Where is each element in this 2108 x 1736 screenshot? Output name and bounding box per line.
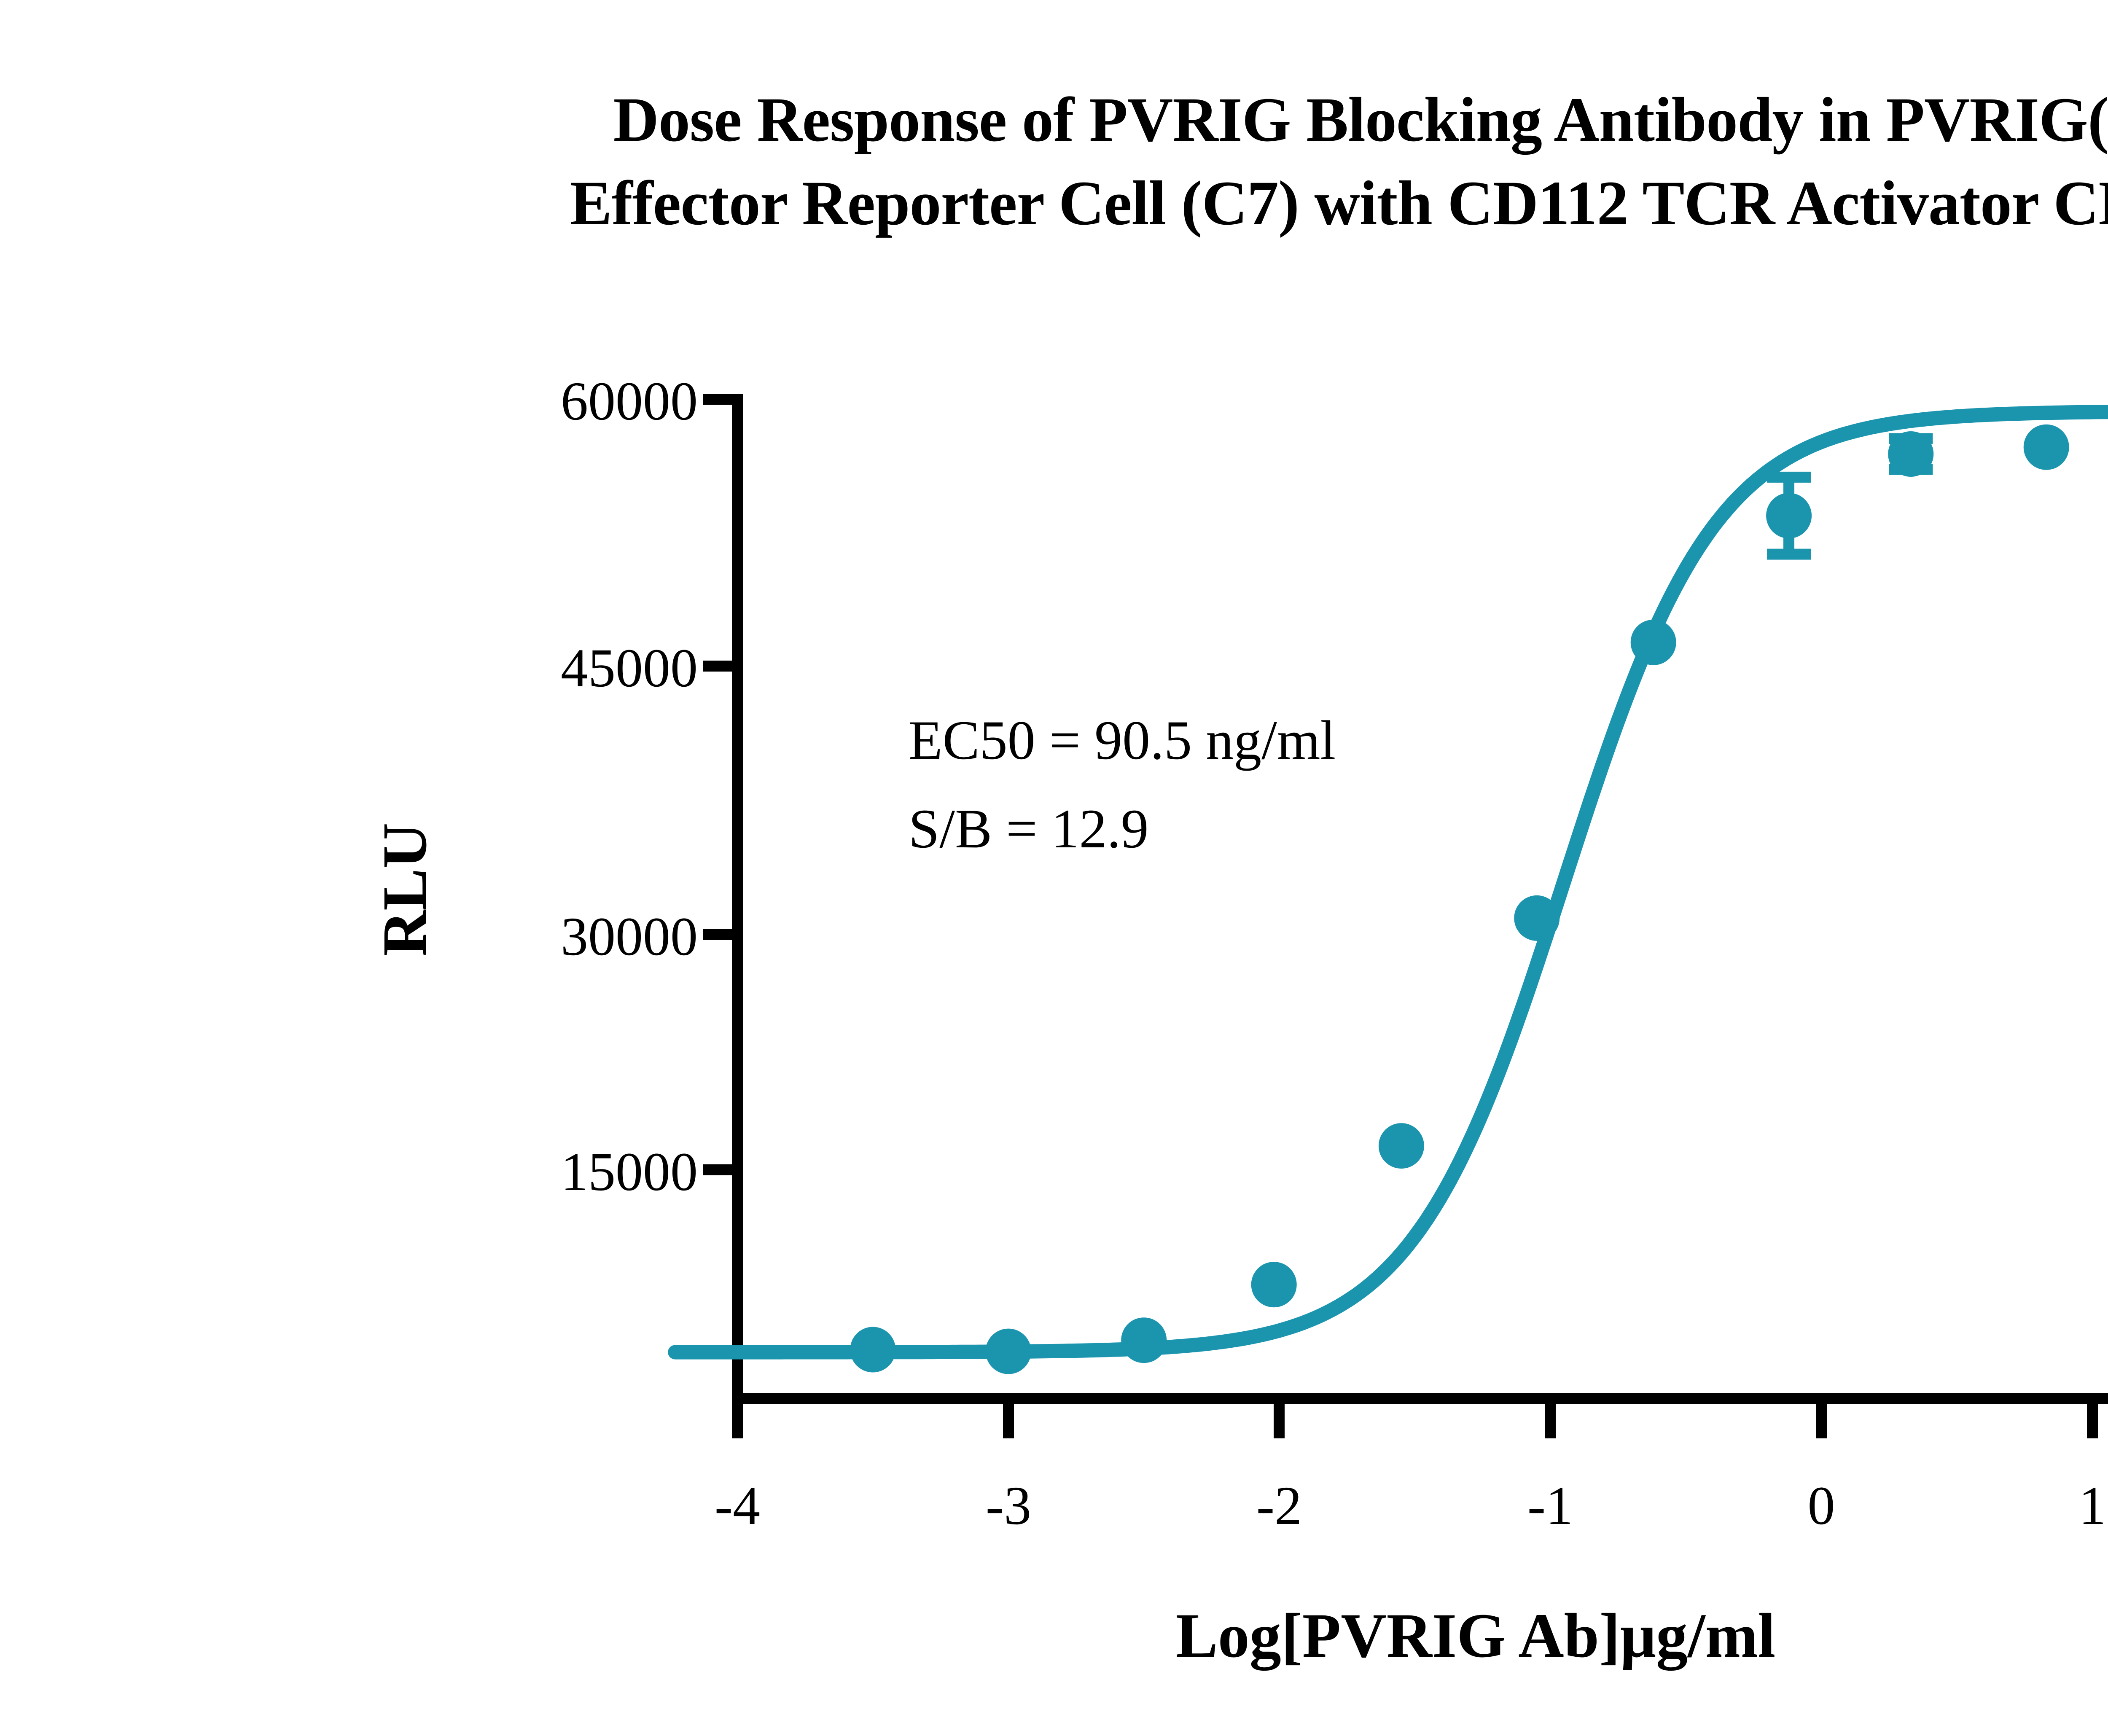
y-tick-label-30000: 30000 (561, 906, 698, 967)
y-tick-label-15000: 15000 (561, 1142, 698, 1202)
data-point (2024, 425, 2069, 470)
y-axis-title: RLU (370, 823, 440, 957)
x-tick-label--4: -4 (715, 1475, 760, 1536)
y-tick-label-60000: 60000 (561, 371, 698, 432)
x-axis (734, 1399, 2108, 1438)
fit-curve (675, 411, 2108, 1352)
x-tick-label-0: 0 (1808, 1475, 1835, 1536)
annotation-signal-to-background: S/B = 12.9 (909, 798, 1149, 860)
data-point (1888, 431, 1933, 477)
x-tick-label--2: -2 (1256, 1475, 1302, 1536)
y-axis (703, 394, 737, 1423)
chart-figure: Dose Response of PVRIG Blocking Antibody… (0, 0, 2108, 1736)
data-point (1514, 895, 1559, 941)
data-point (1121, 1317, 1167, 1363)
data-point (850, 1327, 895, 1373)
x-axis-title: Log[PVRIG Ab]μg/ml (1176, 1601, 1776, 1671)
x-tick-label-1: 1 (2079, 1475, 2106, 1536)
x-tick-label--3: -3 (986, 1475, 1031, 1536)
data-point (986, 1329, 1031, 1374)
data-point (1379, 1123, 1424, 1169)
data-point (1631, 620, 1676, 665)
dose-response-plot: RLU 60000 45000 30000 15000 -4 -3 -2 -1 (0, 0, 2108, 1736)
data-point (1766, 493, 1812, 538)
data-point (1251, 1262, 1297, 1307)
y-tick-label-45000: 45000 (561, 638, 698, 699)
annotation-ec50: EC50 = 90.5 ng/ml (909, 709, 1336, 771)
x-tick-label--1: -1 (1527, 1475, 1573, 1536)
data-points (850, 378, 2108, 1374)
